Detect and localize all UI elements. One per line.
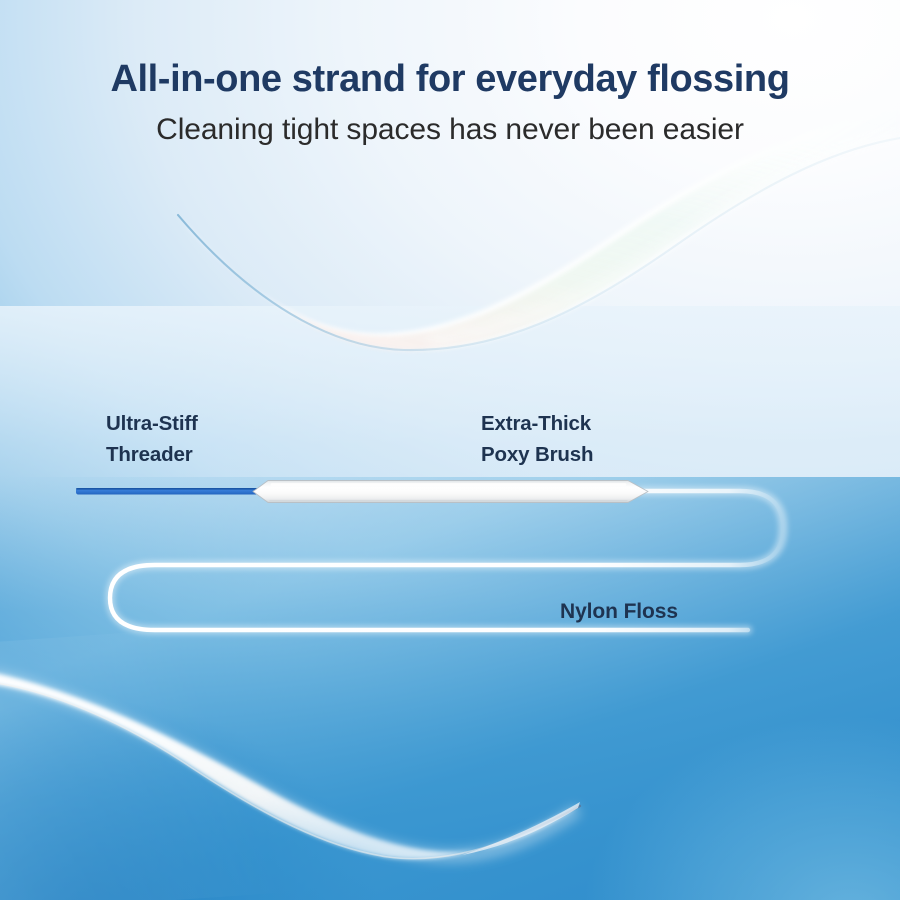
nylon-floss-glow [110, 491, 783, 630]
label-ultra-stiff-threader: Ultra-Stiff Threader [106, 408, 198, 470]
extra-thick-poxy-brush-part [253, 481, 648, 503]
ultra-stiff-threader-part [76, 488, 258, 495]
label-extra-thick-poxy-brush: Extra-Thick Poxy Brush [481, 408, 593, 470]
label-nylon-floss: Nylon Floss [560, 596, 678, 628]
product-feature-poster: All-in-one strand for everyday flossing … [0, 0, 900, 900]
